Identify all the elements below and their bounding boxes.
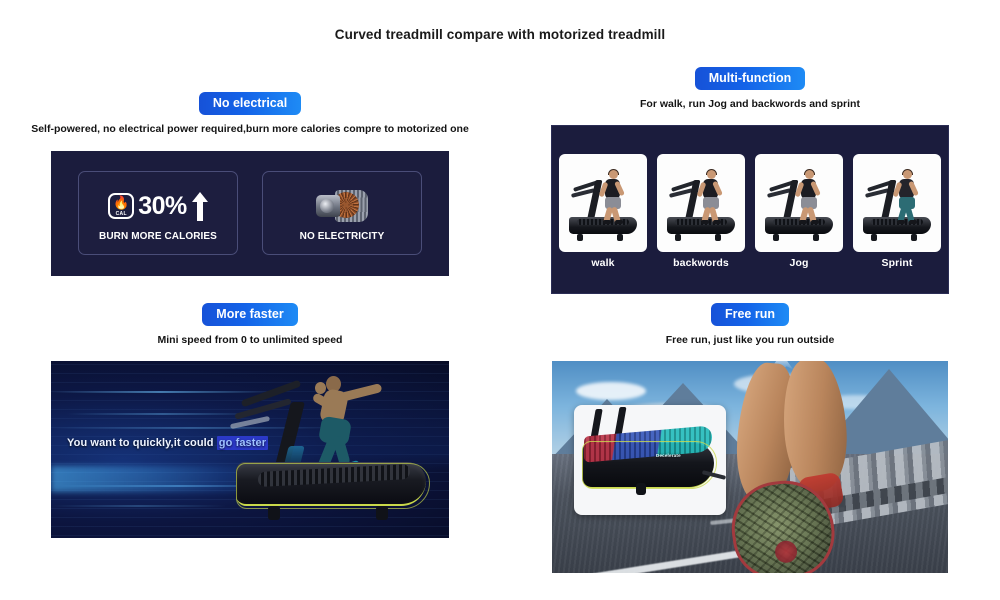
treadmill-foot-left — [577, 234, 583, 241]
mode-cell-jog[interactable]: Jog — [755, 154, 843, 269]
flame-glyph: 🔥 — [113, 196, 129, 209]
panel-multi-function: walk — [551, 125, 949, 294]
subtitle-free-run: Free run, just like you run outside — [500, 334, 1000, 347]
runner-head — [805, 170, 814, 179]
flame-cal-icon: 🔥 CAL — [108, 193, 134, 219]
runner-head — [609, 170, 618, 179]
mode-photo-row: walk — [552, 126, 948, 294]
treadmill-foot-left — [871, 234, 877, 241]
mode-cell-sprint[interactable]: Sprint — [853, 154, 941, 269]
mode-label-walk: walk — [591, 257, 614, 269]
running-shoe-sole — [726, 474, 841, 573]
treadmill-foot-right — [617, 234, 623, 241]
inset-treadmill-graphic: Decelerate — [578, 413, 722, 509]
mode-label-sprint: Sprint — [882, 257, 913, 269]
treadmill-jog-photo — [755, 154, 843, 252]
treadmill-walk-photo — [559, 154, 647, 252]
subtitle-multi-function: For walk, run Jog and backwords and spri… — [500, 98, 1000, 111]
badge-free-run[interactable]: Free run — [711, 303, 789, 326]
section-more-faster: More faster Mini speed from 0 to unlimit… — [0, 303, 500, 538]
speed-treadmill-sprinter-photo — [226, 382, 441, 522]
broken-plug-icon — [316, 186, 368, 226]
speed-overlay-text-plain: You want to quickly,it could — [67, 437, 217, 449]
badge-no-electrical[interactable]: No electrical — [199, 92, 301, 115]
feature-visual — [316, 184, 368, 228]
treadmill-foot-right — [715, 234, 721, 241]
inset-rim-highlight — [582, 441, 717, 489]
runner-shoe-right — [615, 220, 623, 224]
runner-shoe-left — [603, 220, 611, 224]
speed-streak — [51, 505, 226, 507]
panel-free-run: Decelerate — [552, 361, 948, 573]
mode-label-jog: Jog — [790, 257, 809, 269]
mode-cell-backwords[interactable]: backwords — [657, 154, 745, 269]
sprinter-arm-front — [340, 383, 383, 402]
sprinter-hand — [315, 382, 326, 394]
treadmill-foot-left — [773, 234, 779, 241]
curved-treadmill-zones-photo[interactable]: Decelerate — [574, 405, 726, 515]
section-no-electrical: No electrical Self-powered, no electrica… — [0, 92, 500, 276]
treadmill-backwards-photo — [657, 154, 745, 252]
section-multi-function: Multi-function For walk, run Jog and bac… — [500, 67, 1000, 294]
panel-no-electrical: 🔥 CAL 30% BURN MORE CALORIES — [51, 151, 449, 276]
feature-card-no-electricity: NO ELECTRICITY — [262, 171, 422, 255]
runner-shoe-right — [713, 220, 721, 224]
badge-more-faster[interactable]: More faster — [202, 303, 297, 326]
runner-shoe-right — [909, 220, 917, 224]
feature-card-burn-calories: 🔥 CAL 30% BURN MORE CALORIES — [78, 171, 238, 255]
treadmill-graphic — [763, 176, 835, 242]
mode-cell-walk[interactable]: walk — [559, 154, 647, 269]
runner-shoe-left — [799, 220, 807, 224]
runner-figure — [597, 170, 631, 220]
plug-body-shape — [316, 195, 340, 217]
treadmill-graphic — [665, 176, 737, 242]
runner-shoe-right — [811, 220, 819, 224]
runner-legs-road-mountains-photo: Decelerate — [552, 361, 948, 573]
runner-shoe-left — [897, 220, 905, 224]
runner-shoe-left — [701, 220, 709, 224]
feature-label-no-electricity: NO ELECTRICITY — [300, 231, 385, 242]
treadmill-foot-right — [376, 506, 388, 520]
treadmill-graphic — [567, 176, 639, 242]
panel-more-faster: You want to quickly,it could go faster — [51, 361, 449, 538]
badge-multi-function[interactable]: Multi-function — [695, 67, 806, 90]
treadmill-foot-left — [268, 506, 280, 520]
runner-calf-front — [779, 361, 850, 493]
runner-figure — [891, 170, 925, 220]
calorie-percent-value: 30% — [138, 194, 187, 219]
up-arrow-icon — [192, 191, 208, 221]
treadmill-foot-right — [911, 234, 917, 241]
feature-visual: 🔥 CAL 30% — [108, 184, 208, 228]
runner-figure — [793, 170, 827, 220]
inset-treadmill-foot — [636, 483, 646, 495]
treadmill-foot-right — [813, 234, 819, 241]
section-free-run: Free run Free run, just like you run out… — [500, 303, 1000, 573]
runner-figure — [695, 170, 729, 220]
treadmill-sprint-photo — [853, 154, 941, 252]
mode-label-backwords: backwords — [673, 257, 729, 269]
runner-legs — [726, 363, 876, 563]
comparison-infographic: Curved treadmill compare with motorized … — [0, 0, 1000, 600]
treadmill-rim-highlight — [236, 463, 430, 509]
speed-overlay-text: You want to quickly,it could go faster — [67, 437, 268, 449]
runner-head — [903, 170, 912, 179]
speed-overlay-text-highlight: go faster — [217, 436, 268, 450]
runner-head — [707, 170, 716, 179]
feature-label-burn-calories: BURN MORE CALORIES — [99, 231, 217, 242]
treadmill-foot-left — [675, 234, 681, 241]
feature-row: 🔥 CAL 30% BURN MORE CALORIES — [51, 151, 449, 276]
subtitle-more-faster: Mini speed from 0 to unlimited speed — [0, 334, 500, 347]
subtitle-no-electrical: Self-powered, no electrical power requir… — [0, 123, 500, 136]
treadmill-graphic — [861, 176, 933, 242]
cal-label: CAL — [110, 211, 132, 217]
page-title: Curved treadmill compare with motorized … — [0, 27, 1000, 42]
